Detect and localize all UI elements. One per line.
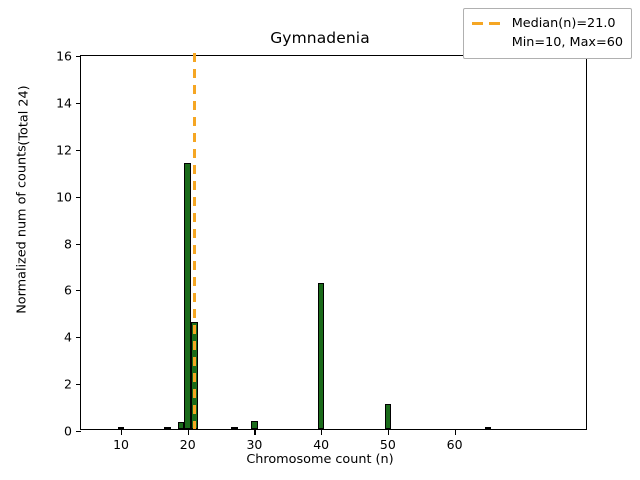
y-tick <box>76 244 82 245</box>
y-tick <box>76 337 82 338</box>
y-tick <box>76 103 82 104</box>
y-tick-label: 16 <box>56 49 72 64</box>
bar <box>385 404 392 429</box>
y-tick-label: 8 <box>64 236 72 251</box>
bar <box>318 283 325 429</box>
x-tick-label: 10 <box>113 437 129 452</box>
bar <box>184 163 191 429</box>
y-tick-label: 2 <box>64 377 72 392</box>
y-tick-label: 10 <box>56 189 72 204</box>
y-tick <box>76 290 82 291</box>
bar <box>485 427 492 429</box>
plot-area: 0246810121416102030405060 <box>80 55 587 430</box>
matplotlib-figure: Gymnadenia 0246810121416102030405060 Nor… <box>0 0 640 480</box>
median-line-swatch-icon <box>472 22 504 25</box>
y-tick <box>76 431 82 432</box>
x-tick-label: 40 <box>313 437 329 452</box>
x-axis-label: Chromosome count (n) <box>0 452 640 467</box>
legend-label-minmax: Min=10, Max=60 <box>512 35 623 50</box>
x-tick <box>188 429 189 435</box>
x-tick-label: 60 <box>447 437 463 452</box>
y-tick <box>76 197 82 198</box>
y-tick <box>76 384 82 385</box>
legend-item-minmax: Min=10, Max=60 <box>472 33 623 52</box>
legend-item-median: Median(n)=21.0 <box>472 14 623 33</box>
y-tick-label: 6 <box>64 283 72 298</box>
x-tick-label: 20 <box>180 437 196 452</box>
bar <box>251 421 258 429</box>
x-tick <box>121 429 122 435</box>
legend-label-median: Median(n)=21.0 <box>512 16 616 31</box>
bars-layer <box>81 56 586 429</box>
y-axis-label-secondary: (Total 24) <box>17 36 32 196</box>
bar <box>231 427 238 429</box>
x-tick-label: 30 <box>246 437 262 452</box>
bar <box>164 427 171 429</box>
x-tick <box>388 429 389 435</box>
y-tick-label: 14 <box>56 95 72 110</box>
bar <box>178 422 185 429</box>
x-tick <box>254 429 255 435</box>
x-tick <box>321 429 322 435</box>
blank-swatch-icon <box>472 41 504 44</box>
y-tick-label: 0 <box>64 424 72 439</box>
y-tick <box>76 150 82 151</box>
median-line <box>193 53 196 429</box>
y-tick-label: 12 <box>56 142 72 157</box>
x-tick-label: 50 <box>380 437 396 452</box>
y-tick <box>76 56 82 57</box>
y-tick-label: 4 <box>64 330 72 345</box>
x-tick <box>455 429 456 435</box>
legend: Median(n)=21.0 Min=10, Max=60 <box>463 8 632 59</box>
